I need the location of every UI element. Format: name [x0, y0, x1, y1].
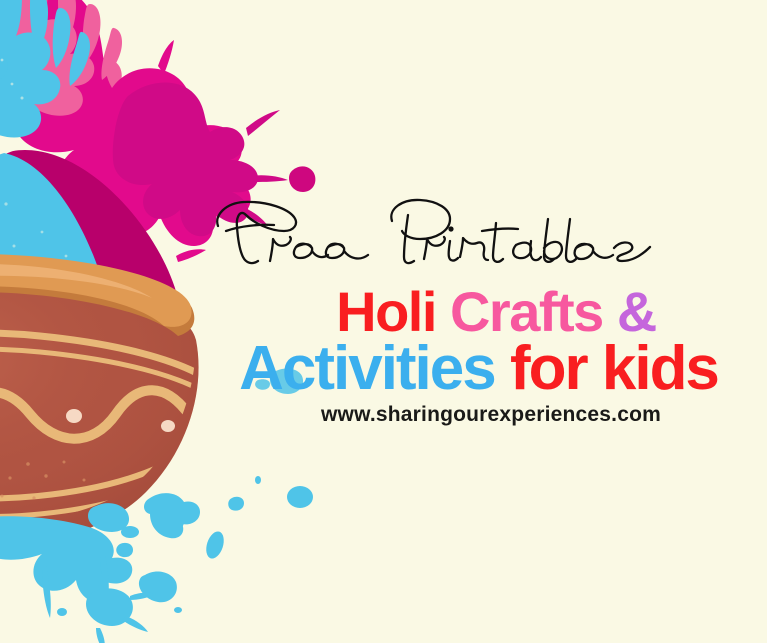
- droplet-8: [287, 486, 313, 508]
- holi-printables-poster: Free Printables: [0, 0, 767, 643]
- headline-line-2: Activities for kids: [0, 337, 767, 401]
- droplet-9: [255, 476, 261, 484]
- headline-word-activities: Activities: [239, 334, 495, 403]
- script-heading-free-printables: Free Printables: [210, 193, 680, 273]
- headline-line-1: Holi Crafts &: [0, 283, 767, 341]
- droplet-13: [116, 543, 133, 557]
- droplet-12: [174, 607, 182, 613]
- droplet-11: [57, 608, 67, 616]
- headline-word-for-kids: for kids: [510, 334, 718, 403]
- site-url-text: www.sharingourexperiences.com: [0, 403, 767, 427]
